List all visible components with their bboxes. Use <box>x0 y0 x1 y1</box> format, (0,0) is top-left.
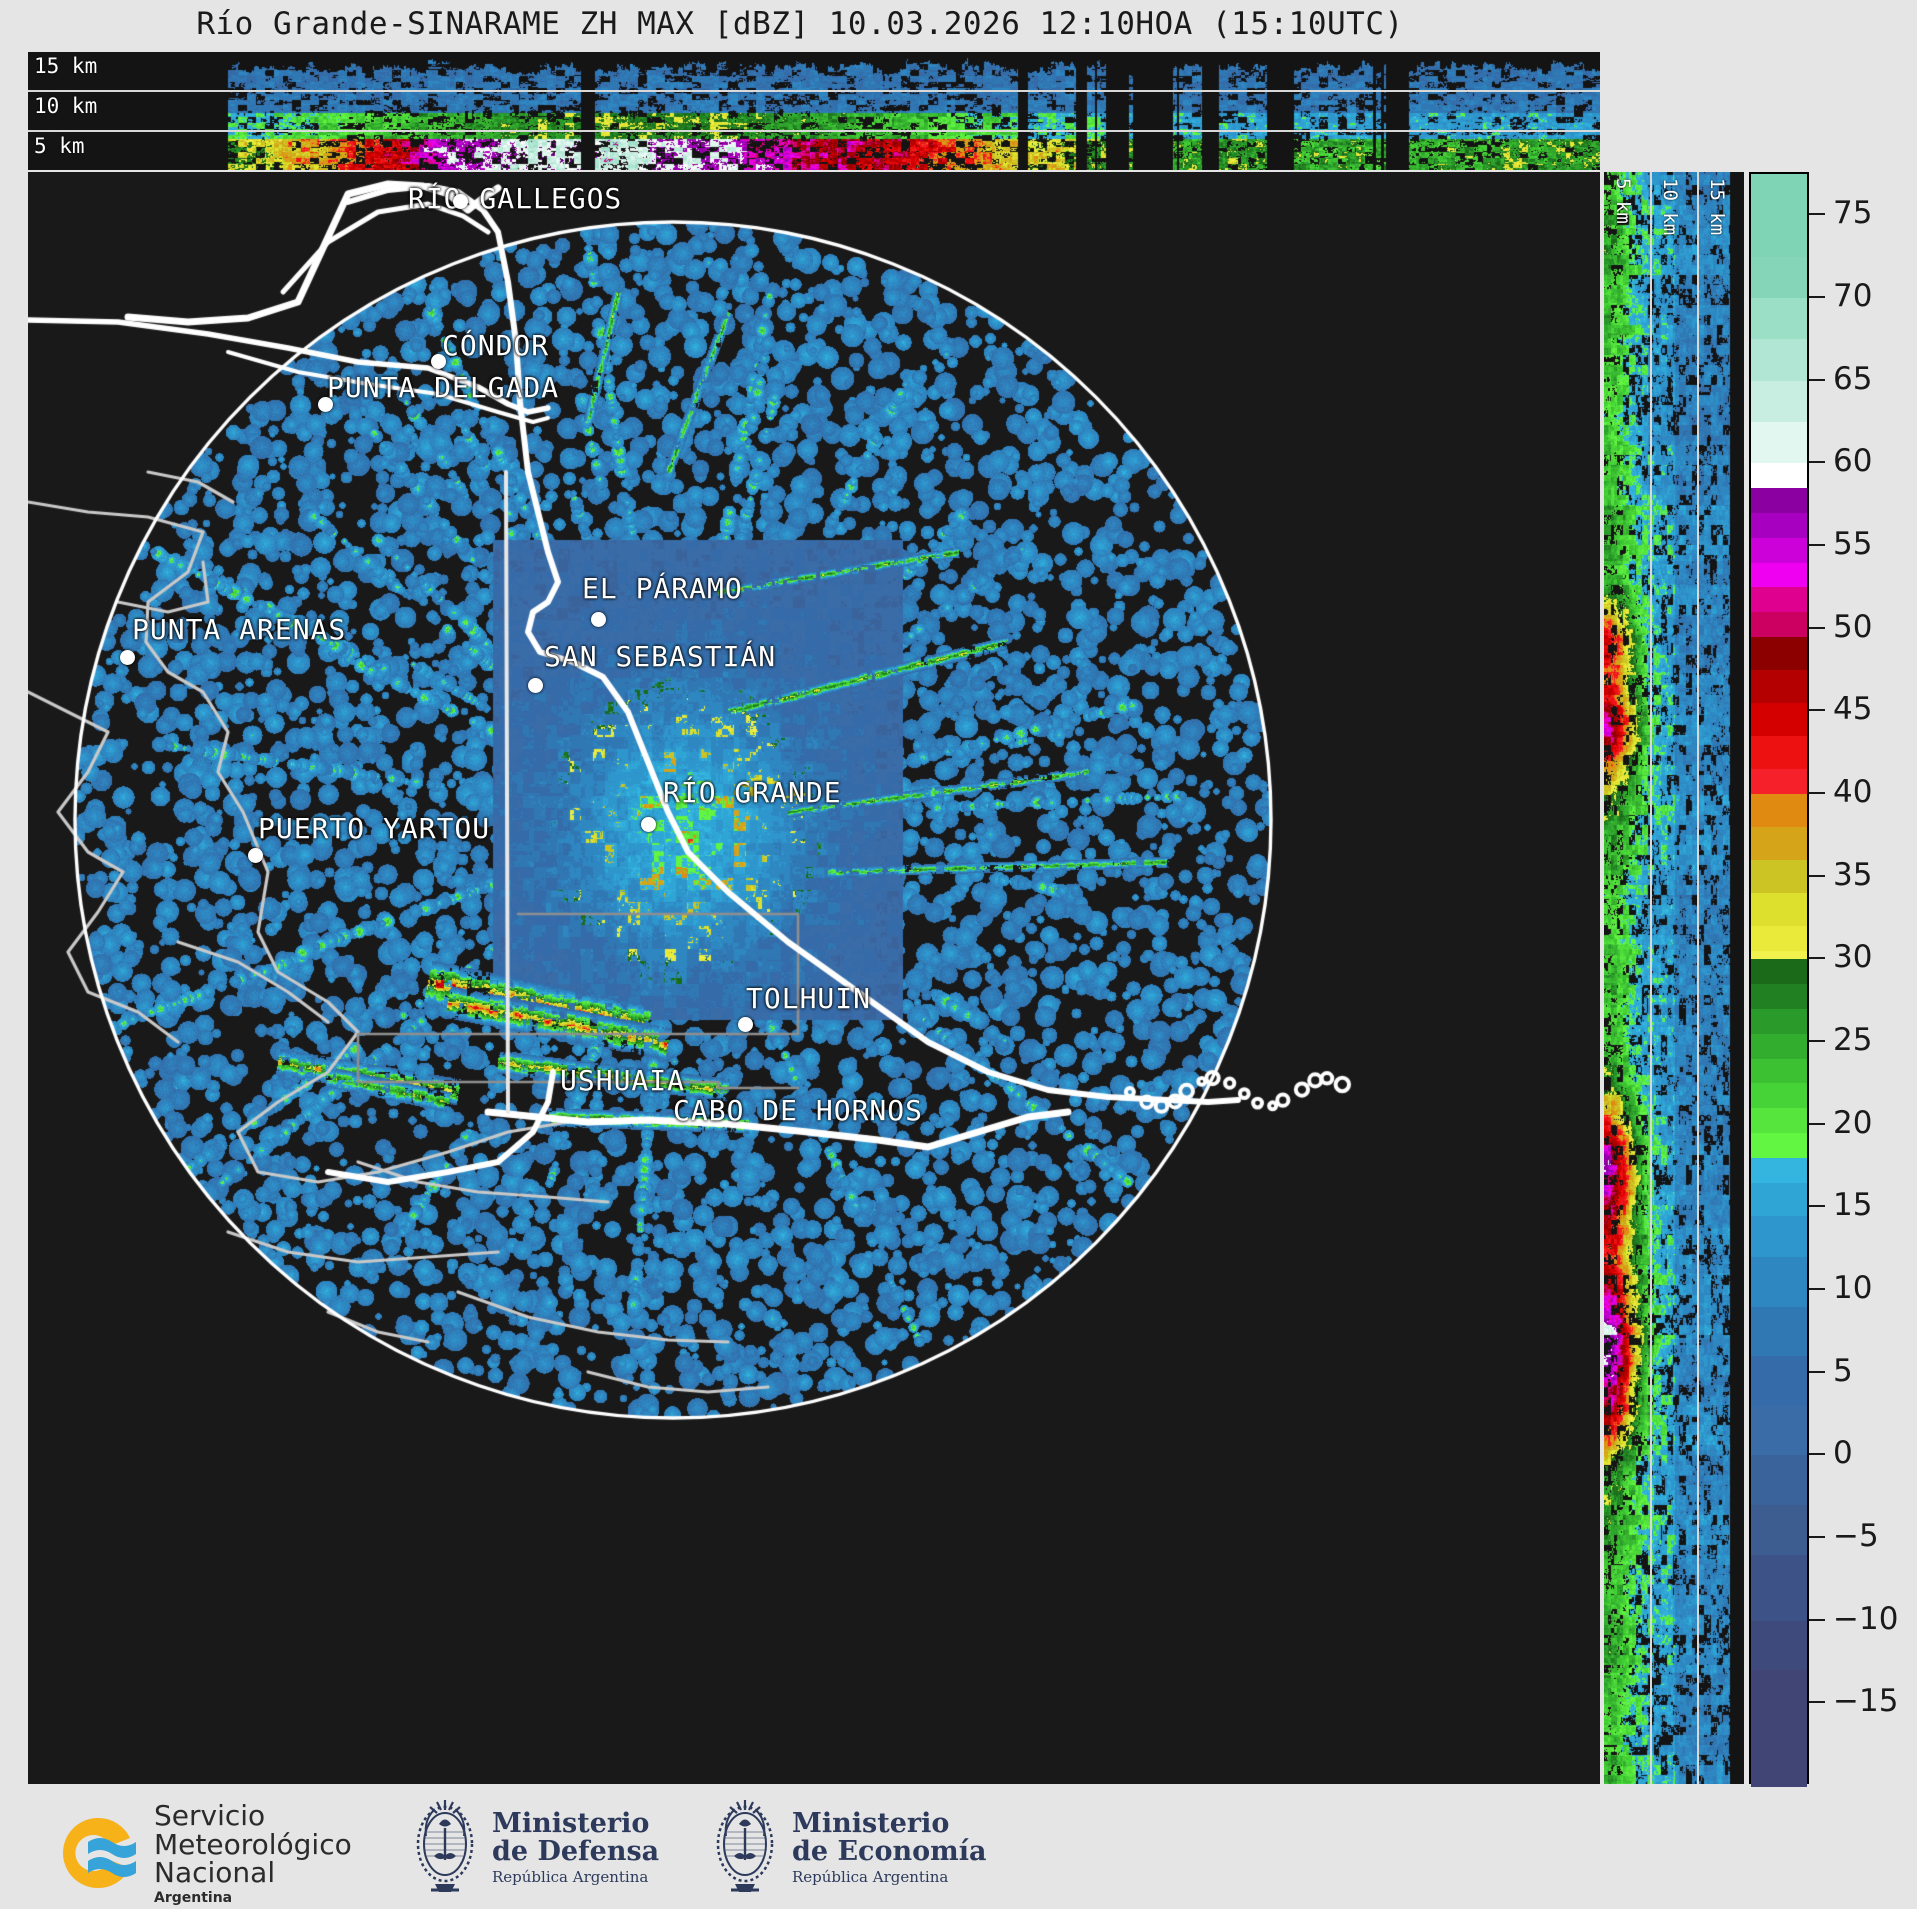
colorbar-segment <box>1751 612 1807 637</box>
smn-line-4: Argentina <box>154 1891 352 1905</box>
city-marker-dot <box>120 650 135 665</box>
colorbar-tick <box>1809 627 1825 629</box>
colorbar-tick <box>1809 213 1825 215</box>
colorbar-tick <box>1809 461 1825 463</box>
height-label-5km: 5 km <box>34 134 85 158</box>
colorbar-segment <box>1751 860 1807 894</box>
city-marker-dot <box>431 354 446 369</box>
colorbar-tick-label: 70 <box>1833 278 1872 314</box>
defensa-line-2: de Defensa <box>492 1838 659 1866</box>
colorbar-segment <box>1751 1356 1807 1406</box>
colorbar-segment <box>1751 769 1807 794</box>
colorbar-segment <box>1751 513 1807 538</box>
colorbar-segment <box>1751 1059 1807 1084</box>
height-label-vert-15km: 15 km <box>1706 178 1728 235</box>
colorbar-segment <box>1751 257 1807 299</box>
economia-line-2: de Economía <box>792 1838 986 1866</box>
colorbar-segment <box>1751 637 1807 671</box>
city-label: PUNTA DELGADA <box>327 371 559 404</box>
colorbar-segment <box>1751 736 1807 770</box>
colorbar-segment <box>1751 1183 1807 1217</box>
city-marker-dot <box>591 612 606 627</box>
colorbar-tick-label: −15 <box>1833 1683 1898 1719</box>
colorbar-segment <box>1751 1555 1807 1622</box>
colorbar-segment <box>1751 587 1807 612</box>
colorbar-tick <box>1809 1288 1825 1290</box>
colorbar-tick-label: 30 <box>1833 939 1872 975</box>
city-marker-dot <box>641 817 656 832</box>
smn-line-1: Servicio <box>154 1802 352 1831</box>
city-label: USHUAIA <box>560 1064 685 1097</box>
height-label-vert-5km: 5 km <box>1612 178 1634 224</box>
colorbar-segment <box>1751 1216 1807 1258</box>
page-title: Río Grande-SINARAME ZH MAX [dBZ] 10.03.2… <box>0 6 1600 42</box>
colorbar-segment <box>1751 1670 1807 1786</box>
colorbar-segment <box>1751 1621 1807 1671</box>
colorbar-tick <box>1809 875 1825 877</box>
colorbar-segment <box>1751 1406 1807 1456</box>
colorbar-tick <box>1809 1123 1825 1125</box>
colorbar-tick-label: −10 <box>1833 1601 1898 1637</box>
radar-plan-view-panel[interactable]: RÍO GALLEGOSCÓNDORPUNTA DELGADAEL PÁRAMO… <box>28 172 1600 1784</box>
height-label-vert-10km: 10 km <box>1659 178 1681 235</box>
colorbar-tick <box>1809 1619 1825 1621</box>
city-label: CÓNDOR <box>442 329 549 362</box>
smn-line-3: Nacional <box>154 1859 352 1888</box>
smn-logo-icon <box>52 1812 144 1894</box>
colorbar-tick <box>1809 1536 1825 1538</box>
colorbar-gradient <box>1749 172 1809 1784</box>
colorbar-segment <box>1751 1034 1807 1059</box>
colorbar-segment <box>1751 422 1807 464</box>
colorbar-segment <box>1751 1257 1807 1307</box>
colorbar-tick <box>1809 1205 1825 1207</box>
colorbar-segment <box>1751 926 1807 951</box>
colorbar-segment <box>1751 703 1807 737</box>
colorbar-segment <box>1751 670 1807 704</box>
smn-line-2: Meteorológico <box>154 1831 352 1860</box>
colorbar-tick-label: 45 <box>1833 691 1872 727</box>
colorbar-tick-label: 15 <box>1833 1187 1872 1223</box>
gridline-15km <box>28 90 1600 92</box>
city-label: EL PÁRAMO <box>582 572 743 605</box>
colorbar-segment <box>1751 1133 1807 1158</box>
city-label: CABO DE HORNOS <box>673 1094 923 1127</box>
height-label-10km: 10 km <box>34 94 97 118</box>
economia-line-1: Ministerio <box>792 1810 986 1838</box>
colorbar-tick-label: 65 <box>1833 361 1872 397</box>
logo-ministerio-economia: Ministerio de Economía República Argenti… <box>712 1798 986 1898</box>
colorbar-segment <box>1751 893 1807 927</box>
colorbar-tick <box>1809 544 1825 546</box>
colorbar-tick <box>1809 296 1825 298</box>
height-label-15km: 15 km <box>34 54 97 78</box>
colorbar-segment <box>1751 1307 1807 1357</box>
colorbar <box>1749 172 1809 1784</box>
top-cross-section-panel: 15 km 10 km 5 km <box>28 52 1600 170</box>
colorbar-segment <box>1751 538 1807 563</box>
colorbar-segment <box>1751 1158 1807 1183</box>
colorbar-segment <box>1751 298 1807 340</box>
city-label: TOLHUIN <box>746 982 871 1015</box>
colorbar-segment <box>1751 339 1807 381</box>
colorbar-tick-label: 50 <box>1833 609 1872 645</box>
colorbar-tick <box>1809 792 1825 794</box>
city-marker-dot <box>738 1017 753 1032</box>
colorbar-segment <box>1751 381 1807 423</box>
colorbar-tick-label: 5 <box>1833 1353 1853 1389</box>
city-label: PUNTA ARENAS <box>132 613 346 646</box>
top-cross-section-canvas <box>28 52 1600 170</box>
gridline-vert-5km <box>1650 172 1652 1784</box>
city-label: RÍO GRANDE <box>663 776 842 809</box>
colorbar-tick-label: 35 <box>1833 857 1872 893</box>
city-marker-dot <box>318 397 333 412</box>
colorbar-segment <box>1751 1505 1807 1555</box>
colorbar-segment <box>1751 959 1807 984</box>
colorbar-segment <box>1751 488 1807 513</box>
argentina-coat-of-arms-icon <box>412 1798 478 1898</box>
colorbar-tick-label: 20 <box>1833 1105 1872 1141</box>
colorbar-segment <box>1751 1108 1807 1133</box>
colorbar-tick-label: 0 <box>1833 1435 1853 1471</box>
colorbar-tick <box>1809 1040 1825 1042</box>
defensa-line-1: Ministerio <box>492 1810 659 1838</box>
economia-line-3: República Argentina <box>792 1870 986 1886</box>
colorbar-tick <box>1809 1701 1825 1703</box>
gridline-10km <box>28 130 1600 132</box>
colorbar-segment <box>1751 827 1807 861</box>
colorbar-tick-label: −5 <box>1833 1518 1879 1554</box>
colorbar-segment <box>1751 1009 1807 1034</box>
city-marker-dot <box>453 194 468 209</box>
argentina-coat-of-arms-icon <box>712 1798 778 1898</box>
colorbar-tick <box>1809 957 1825 959</box>
colorbar-tick <box>1809 379 1825 381</box>
city-label: SAN SEBASTIÁN <box>544 640 776 673</box>
colorbar-segment <box>1751 563 1807 588</box>
colorbar-tick-label: 75 <box>1833 195 1872 231</box>
footer-logos: Servicio Meteorológico Nacional Argentin… <box>0 1790 1917 1909</box>
colorbar-tick <box>1809 709 1825 711</box>
colorbar-tick <box>1809 1453 1825 1455</box>
logo-ministerio-defensa: Ministerio de Defensa República Argentin… <box>412 1798 659 1898</box>
colorbar-tick-label: 55 <box>1833 526 1872 562</box>
colorbar-tick-label: 25 <box>1833 1022 1872 1058</box>
colorbar-tick-label: 10 <box>1833 1270 1872 1306</box>
right-cross-section-canvas <box>1604 172 1744 1784</box>
colorbar-segment <box>1751 1083 1807 1108</box>
colorbar-tick-label: 60 <box>1833 443 1872 479</box>
colorbar-tick-layer: 757065605550454035302520151050−5−10−15 <box>1809 172 1917 1784</box>
radar-ppi-canvas <box>28 172 1600 1784</box>
city-marker-dot <box>528 678 543 693</box>
city-marker-dot <box>248 848 263 863</box>
colorbar-tick-label: 40 <box>1833 774 1872 810</box>
colorbar-segment <box>1751 1455 1807 1505</box>
city-label: RÍO GALLEGOS <box>408 182 622 215</box>
right-cross-section-panel: 5 km 10 km 15 km <box>1604 172 1744 1784</box>
colorbar-segment <box>1751 794 1807 828</box>
colorbar-segment <box>1751 174 1807 257</box>
colorbar-segment <box>1751 984 1807 1009</box>
logo-smn: Servicio Meteorológico Nacional Argentin… <box>52 1802 352 1905</box>
colorbar-segment <box>1751 463 1807 488</box>
defensa-line-3: República Argentina <box>492 1870 659 1886</box>
gridline-vert-10km <box>1697 172 1699 1784</box>
city-label: PUERTO YARTOU <box>258 812 490 845</box>
colorbar-tick <box>1809 1371 1825 1373</box>
